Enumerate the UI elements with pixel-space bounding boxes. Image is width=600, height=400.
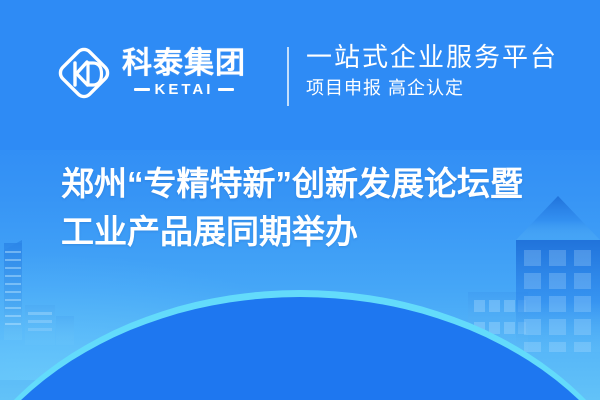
brand-wordmark: 科泰集团 KETAI bbox=[122, 49, 246, 98]
page-title-line-2: 工业产品展同期举办 bbox=[61, 208, 581, 256]
header-tagline: 一站式企业服务平台 项目申报 高企认定 bbox=[306, 42, 558, 99]
brand-name-en-row: KETAI bbox=[134, 82, 235, 97]
page-title: 郑州“专精特新”创新发展论坛暨 工业产品展同期举办 bbox=[61, 160, 581, 255]
tagline-sub: 项目申报 高企认定 bbox=[306, 78, 558, 100]
promo-banner: 科泰集团 KETAI 一站式企业服务平台 项目申报 高企认定 郑州“专精特新”创… bbox=[0, 0, 600, 400]
banner-header: 科泰集团 KETAI 一站式企业服务平台 项目申报 高企认定 bbox=[0, 0, 600, 140]
brand-name-cn: 科泰集团 bbox=[122, 49, 246, 80]
page-title-line-1: 郑州“专精特新”创新发展论坛暨 bbox=[61, 160, 581, 208]
brand-name-en: KETAI bbox=[155, 82, 214, 97]
ketai-diamond-kd-monogram-icon bbox=[55, 44, 113, 102]
rule-right-icon bbox=[218, 88, 234, 91]
brand-logo[interactable]: 科泰集团 KETAI bbox=[55, 44, 246, 102]
rule-left-icon bbox=[134, 88, 150, 91]
tagline-main: 一站式企业服务平台 bbox=[306, 42, 558, 73]
header-divider bbox=[287, 47, 289, 106]
bottom-curve-band bbox=[0, 290, 600, 400]
